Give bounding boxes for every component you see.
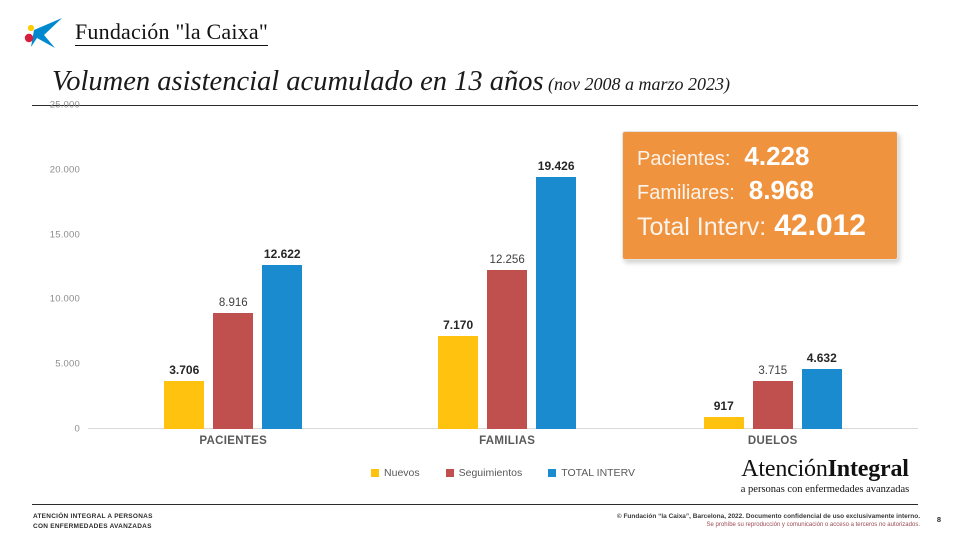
callout-value: 8.968 [749, 175, 814, 206]
y-axis-tick-label: 25.000 [50, 100, 80, 111]
bar-column: 7.170 [438, 105, 478, 429]
bar-value-label: 4.632 [807, 351, 837, 365]
x-axis-category-labels: PACIENTESFAMILIASDUELOS [88, 435, 918, 453]
bar-column: 12.622 [262, 105, 302, 429]
brand-name: Fundación "la Caixa" [75, 20, 268, 45]
footer-left-line2: CON ENFERMEDADES AVANZADAS [33, 522, 153, 532]
footer-left-line1: ATENCIÓN INTEGRAL A PERSONAS [33, 512, 153, 522]
legend-item[interactable]: Nuevos [371, 467, 420, 479]
footer-divider [32, 504, 918, 505]
legend-label: Nuevos [384, 467, 420, 479]
la-caixa-star-icon [22, 14, 66, 52]
bar-column: 3.706 [164, 105, 204, 429]
x-axis-category-label: PACIENTES [199, 435, 267, 447]
callout-key: Total Interv: [637, 213, 766, 242]
ai-word-integral: Integral [828, 456, 909, 482]
callout-key: Familiares: [637, 182, 735, 205]
legend-label: Seguimientos [459, 467, 523, 479]
callout-value: 4.228 [744, 141, 809, 172]
page-title: Volumen asistencial acumulado en 13 años… [52, 66, 730, 98]
bar-column: 12.256 [487, 105, 527, 429]
x-axis-category-label: DUELOS [748, 435, 798, 447]
bar-value-label: 8.916 [219, 297, 248, 309]
y-axis-tick-label: 5.000 [55, 359, 80, 370]
bar-value-label: 12.256 [490, 254, 525, 266]
bar [536, 177, 576, 429]
bar [438, 336, 478, 429]
legend-color-swatch [446, 469, 454, 477]
callout-key: Pacientes: [637, 148, 730, 171]
bar-value-label: 12.622 [264, 247, 301, 261]
bar-column: 19.426 [536, 105, 576, 429]
page-title-main: Volumen asistencial acumulado en 13 años [52, 66, 544, 97]
y-axis-labels: 05.00010.00015.00020.00025.000 [0, 105, 86, 429]
callout-row: Familiares:8.968 [637, 175, 897, 206]
legend-item[interactable]: TOTAL INTERV [548, 467, 635, 479]
legend-label: TOTAL INTERV [561, 467, 635, 479]
y-axis-tick-label: 15.000 [50, 229, 80, 240]
bar [213, 313, 253, 429]
atencion-integral-tagline: a personas con enfermedades avanzadas [729, 484, 921, 495]
atencion-integral-logo: AtenciónIntegral a personas con enfermed… [729, 456, 921, 495]
bar [704, 417, 744, 429]
bar-value-label: 3.715 [758, 365, 787, 377]
bar-group: 3.7068.91612.622 [164, 105, 302, 429]
legend-color-swatch [548, 469, 556, 477]
bar [802, 369, 842, 429]
x-axis-category-label: FAMILIAS [479, 435, 535, 447]
summary-callout-box: Pacientes:4.228Familiares:8.968Total Int… [622, 131, 898, 260]
callout-row: Total Interv:42.012 [637, 209, 897, 243]
y-axis-tick-label: 20.000 [50, 164, 80, 175]
footer-left-text: ATENCIÓN INTEGRAL A PERSONAS CON ENFERME… [33, 512, 153, 532]
bar-group: 7.17012.25619.426 [438, 105, 576, 429]
footer-legal-notice: Se prohíbe su reproducción y comunicació… [617, 521, 920, 530]
page-number: 8 [937, 515, 941, 524]
bar [487, 270, 527, 429]
y-axis-tick-label: 10.000 [50, 294, 80, 305]
bar [262, 265, 302, 429]
bar-column: 8.916 [213, 105, 253, 429]
ai-word-atencion: Atención [741, 456, 827, 482]
legend-item[interactable]: Seguimientos [446, 467, 523, 479]
atencion-integral-name: AtenciónIntegral [729, 456, 921, 483]
y-axis-tick-label: 0 [75, 424, 80, 435]
slide-canvas: Fundación "la Caixa" Volumen asistencial… [0, 0, 960, 540]
bar-value-label: 19.426 [538, 159, 575, 173]
bar [753, 381, 793, 429]
page-title-sub: (nov 2008 a marzo 2023) [548, 74, 730, 94]
bar-value-label: 7.170 [443, 318, 473, 332]
bar-value-label: 3.706 [169, 363, 199, 377]
footer-copyright: © Fundación “la Caixa”, Barcelona, 2022.… [617, 512, 920, 521]
callout-row: Pacientes:4.228 [637, 141, 897, 172]
bar [164, 381, 204, 429]
bar-value-label: 917 [714, 399, 734, 413]
footer-right-text: © Fundación “la Caixa”, Barcelona, 2022.… [617, 512, 920, 530]
brand-logo: Fundación "la Caixa" [22, 14, 268, 52]
legend-color-swatch [371, 469, 379, 477]
callout-value: 42.012 [774, 209, 866, 243]
